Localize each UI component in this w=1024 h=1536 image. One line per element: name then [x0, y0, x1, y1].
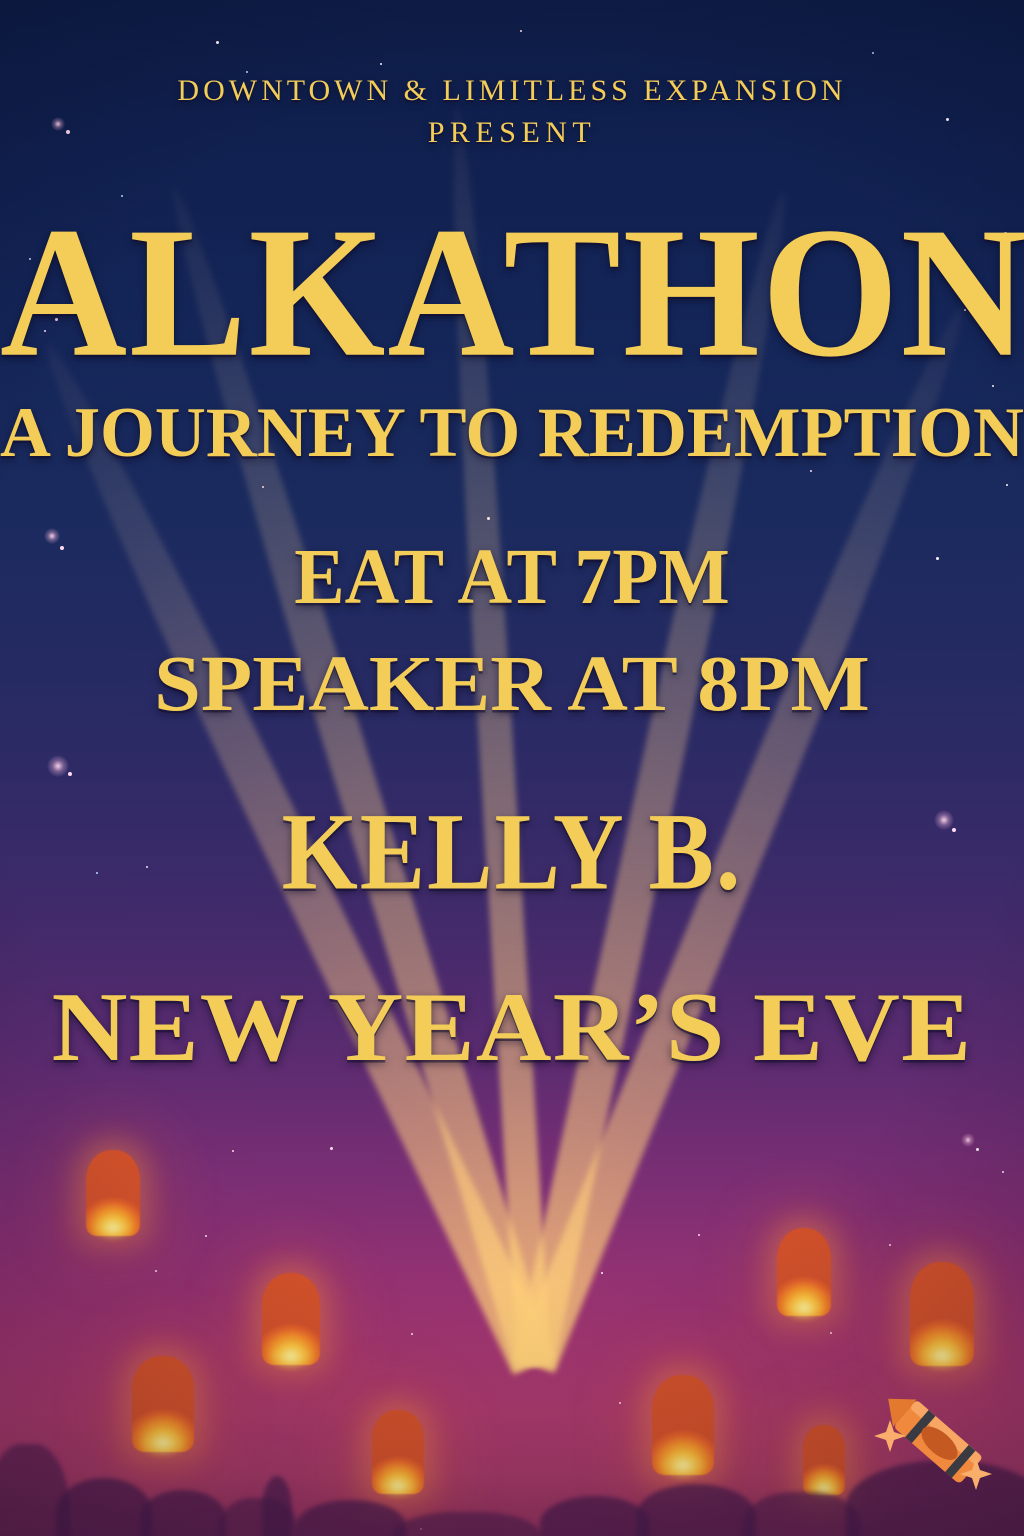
lantern-8	[910, 1262, 974, 1366]
lantern-6	[803, 1425, 845, 1495]
presenters-line: DOWNTOWN & LIMITLESS EXPANSION	[0, 76, 1024, 106]
star	[68, 772, 72, 776]
lantern-1	[86, 1150, 140, 1236]
silhouette-tree-b	[140, 1490, 226, 1536]
star	[330, 1147, 333, 1150]
star	[232, 1150, 234, 1152]
star	[872, 52, 874, 54]
star-glow	[47, 755, 69, 777]
star	[1002, 1171, 1004, 1173]
silhouette-tree-e	[540, 1496, 650, 1536]
star	[155, 1270, 157, 1272]
lantern-2	[262, 1273, 320, 1365]
star	[889, 1244, 891, 1246]
lantern-7	[777, 1228, 831, 1316]
lantern-3	[132, 1356, 194, 1452]
star	[420, 1528, 422, 1530]
silhouette-tree-f	[636, 1484, 756, 1536]
silhouette-tree-c	[218, 1498, 298, 1536]
present-word: PRESENT	[0, 118, 1024, 148]
star	[138, 1416, 140, 1418]
star	[262, 486, 264, 488]
star	[698, 1234, 700, 1236]
crayon-icon	[868, 1384, 998, 1504]
star	[1006, 484, 1008, 486]
star	[216, 41, 219, 44]
page-title: ALKATHON	[0, 200, 1024, 387]
silhouette-tree-g	[742, 1492, 862, 1536]
poster-subtitle: A JOURNEY TO REDEMPTION	[0, 398, 1024, 469]
star	[619, 1402, 621, 1404]
silhouette-tree-a	[56, 1478, 152, 1536]
lantern-4	[372, 1410, 424, 1494]
silhouette-tower-left	[0, 1444, 70, 1536]
silhouette-ridge-mid	[392, 1512, 542, 1536]
speaker-name: KELLY B.	[0, 798, 1024, 908]
star	[601, 1272, 603, 1274]
poster-canvas: DOWNTOWN & LIMITLESS EXPANSION PRESENT A…	[0, 0, 1024, 1536]
eat-time-line: EAT AT 7PM	[0, 538, 1024, 618]
star	[976, 1148, 979, 1151]
star	[411, 1333, 413, 1335]
star	[246, 71, 248, 73]
star-glow	[961, 1133, 975, 1147]
star	[520, 30, 522, 32]
lantern-5	[652, 1375, 714, 1475]
speaker-time-line: SPEAKER AT 8PM	[0, 645, 1024, 725]
event-date: NEW YEAR’S EVE	[0, 978, 1024, 1076]
star	[487, 517, 490, 520]
silhouette-spire	[262, 1476, 292, 1536]
crayon-watermark	[868, 1384, 998, 1504]
star	[205, 1235, 207, 1237]
star	[380, 63, 382, 65]
silhouette-tree-d	[296, 1500, 406, 1536]
star	[830, 1332, 832, 1334]
